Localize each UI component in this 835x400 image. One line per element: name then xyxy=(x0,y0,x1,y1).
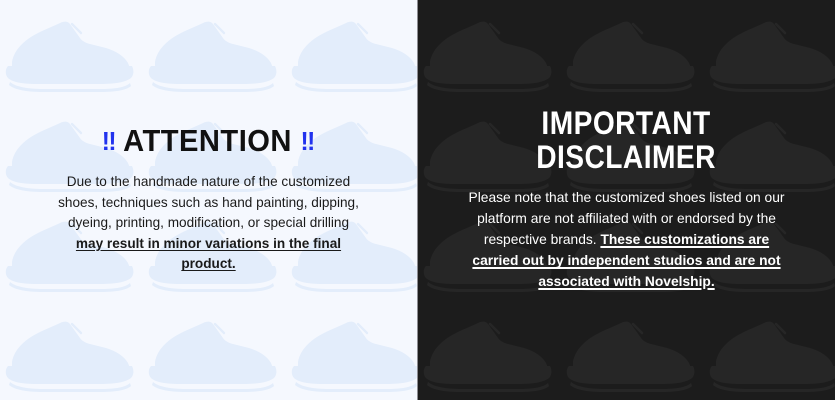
attention-body-text: Due to the handmade nature of the custom… xyxy=(56,172,362,275)
disclaimer-panel-content: IMPORTANT DISCLAIMER Please note that th… xyxy=(418,0,835,400)
attention-body-normal: Due to the handmade nature of the custom… xyxy=(58,174,359,230)
double-exclamation-right-icon: ‼ xyxy=(301,126,315,156)
disclaimer-body-text: Please note that the customized shoes li… xyxy=(467,188,787,293)
double-exclamation-left-icon: ‼ xyxy=(102,126,116,156)
attention-panel-content: ‼ ATTENTION ‼ Due to the handmade nature… xyxy=(0,0,417,400)
attention-panel: ‼ ATTENTION ‼ Due to the handmade nature… xyxy=(0,0,417,400)
attention-heading: ‼ ATTENTION ‼ xyxy=(102,125,315,156)
disclaimer-panel: IMPORTANT DISCLAIMER Please note that th… xyxy=(417,0,835,400)
disclaimer-heading-line-2: DISCLAIMER xyxy=(537,141,717,175)
attention-body-emphasis: may result in minor variations in the fi… xyxy=(76,236,341,272)
disclaimer-heading: IMPORTANT DISCLAIMER xyxy=(537,107,717,175)
attention-heading-text: ATTENTION xyxy=(124,123,293,158)
disclaimer-banner: ‼ ATTENTION ‼ Due to the handmade nature… xyxy=(0,0,835,400)
disclaimer-heading-line-1: IMPORTANT xyxy=(542,105,711,141)
